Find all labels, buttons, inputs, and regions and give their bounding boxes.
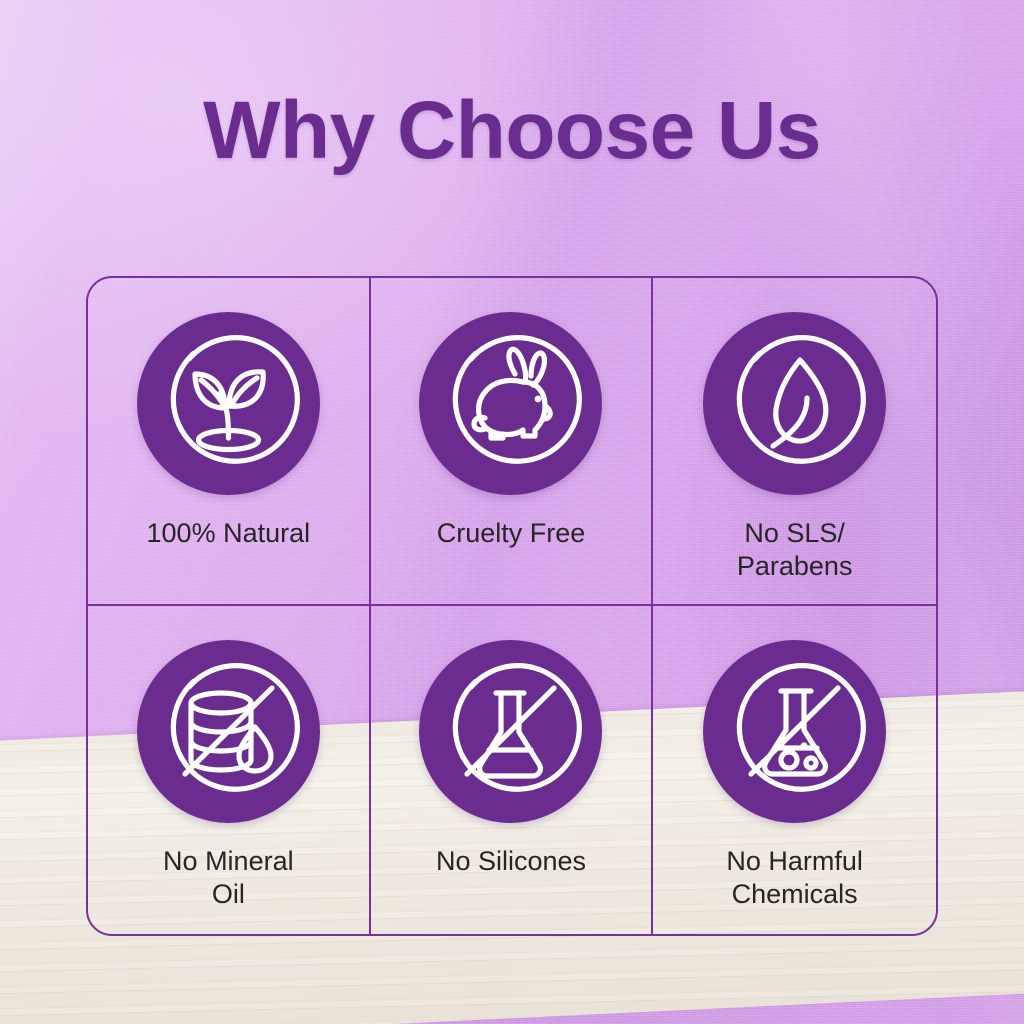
- oil-barrel-droplet-icon: [137, 640, 320, 823]
- leaf-icon: [703, 312, 886, 495]
- feature-label-natural: 100% Natural: [147, 517, 311, 550]
- feature-cell-no-silicones[interactable]: No Silicones: [371, 606, 654, 934]
- badge-no-sls-parabens: [703, 312, 886, 495]
- feature-label-no-harmful-chemicals: No Harmful Chemicals: [726, 845, 863, 911]
- feature-cell-no-harmful-chemicals[interactable]: No Harmful Chemicals: [653, 606, 936, 934]
- feature-cell-cruelty-free[interactable]: Cruelty Free: [371, 278, 654, 606]
- chemical-flask-bubbles-icon: [703, 640, 886, 823]
- badge-no-harmful-chemicals: [703, 640, 886, 823]
- feature-cell-no-sls-parabens[interactable]: No SLS/ Parabens: [653, 278, 936, 606]
- badge-natural: [137, 312, 320, 495]
- feature-label-cruelty-free: Cruelty Free: [437, 517, 586, 550]
- badge-no-silicones: [419, 640, 602, 823]
- feature-label-no-mineral-oil: No Mineral Oil: [163, 845, 294, 911]
- badge-no-mineral-oil: [137, 640, 320, 823]
- sprout-plant-icon: [137, 312, 320, 495]
- rabbit-icon: [419, 312, 602, 495]
- feature-label-no-sls-parabens: No SLS/ Parabens: [737, 517, 853, 583]
- feature-cell-no-mineral-oil[interactable]: No Mineral Oil: [88, 606, 371, 934]
- feature-grid: 100% Natural: [86, 276, 938, 936]
- flask-icon: [419, 640, 602, 823]
- feature-label-no-silicones: No Silicones: [436, 845, 586, 878]
- badge-cruelty-free: [419, 312, 602, 495]
- page-title: Why Choose Us: [0, 84, 1024, 178]
- feature-cell-natural[interactable]: 100% Natural: [88, 278, 371, 606]
- poster-canvas: Why Choose Us 100% Natural: [0, 0, 1024, 1024]
